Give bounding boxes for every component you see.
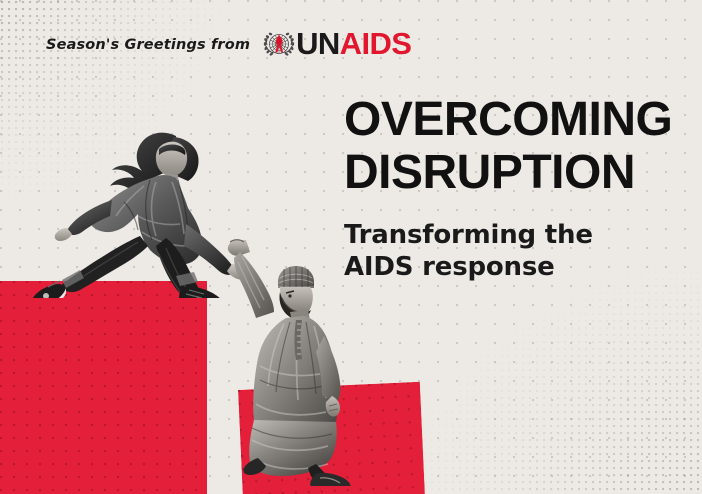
subhead-line-2: AIDS response xyxy=(344,251,672,283)
greeting-card: Season's Greetings from xyxy=(0,0,702,494)
unaids-emblem-icon xyxy=(262,30,296,60)
headline-line-1: OVERCOMING xyxy=(344,93,672,146)
red-block-left xyxy=(0,281,207,494)
wordmark-aids: AIDS xyxy=(340,26,412,61)
greeting-text: Season's Greetings from xyxy=(46,37,250,53)
headline-block: OVERCOMING DISRUPTION Transforming the A… xyxy=(344,93,672,283)
wordmark-un: UN xyxy=(296,26,340,61)
unaids-wordmark: UNAIDS xyxy=(296,28,411,59)
headline-line-2: DISRUPTION xyxy=(344,146,672,199)
subhead-block: Transforming the AIDS response xyxy=(344,219,672,283)
subhead-line-1: Transforming the xyxy=(344,219,672,251)
unaids-logo[interactable]: UNAIDS xyxy=(262,29,411,60)
header: Season's Greetings from xyxy=(46,29,411,60)
